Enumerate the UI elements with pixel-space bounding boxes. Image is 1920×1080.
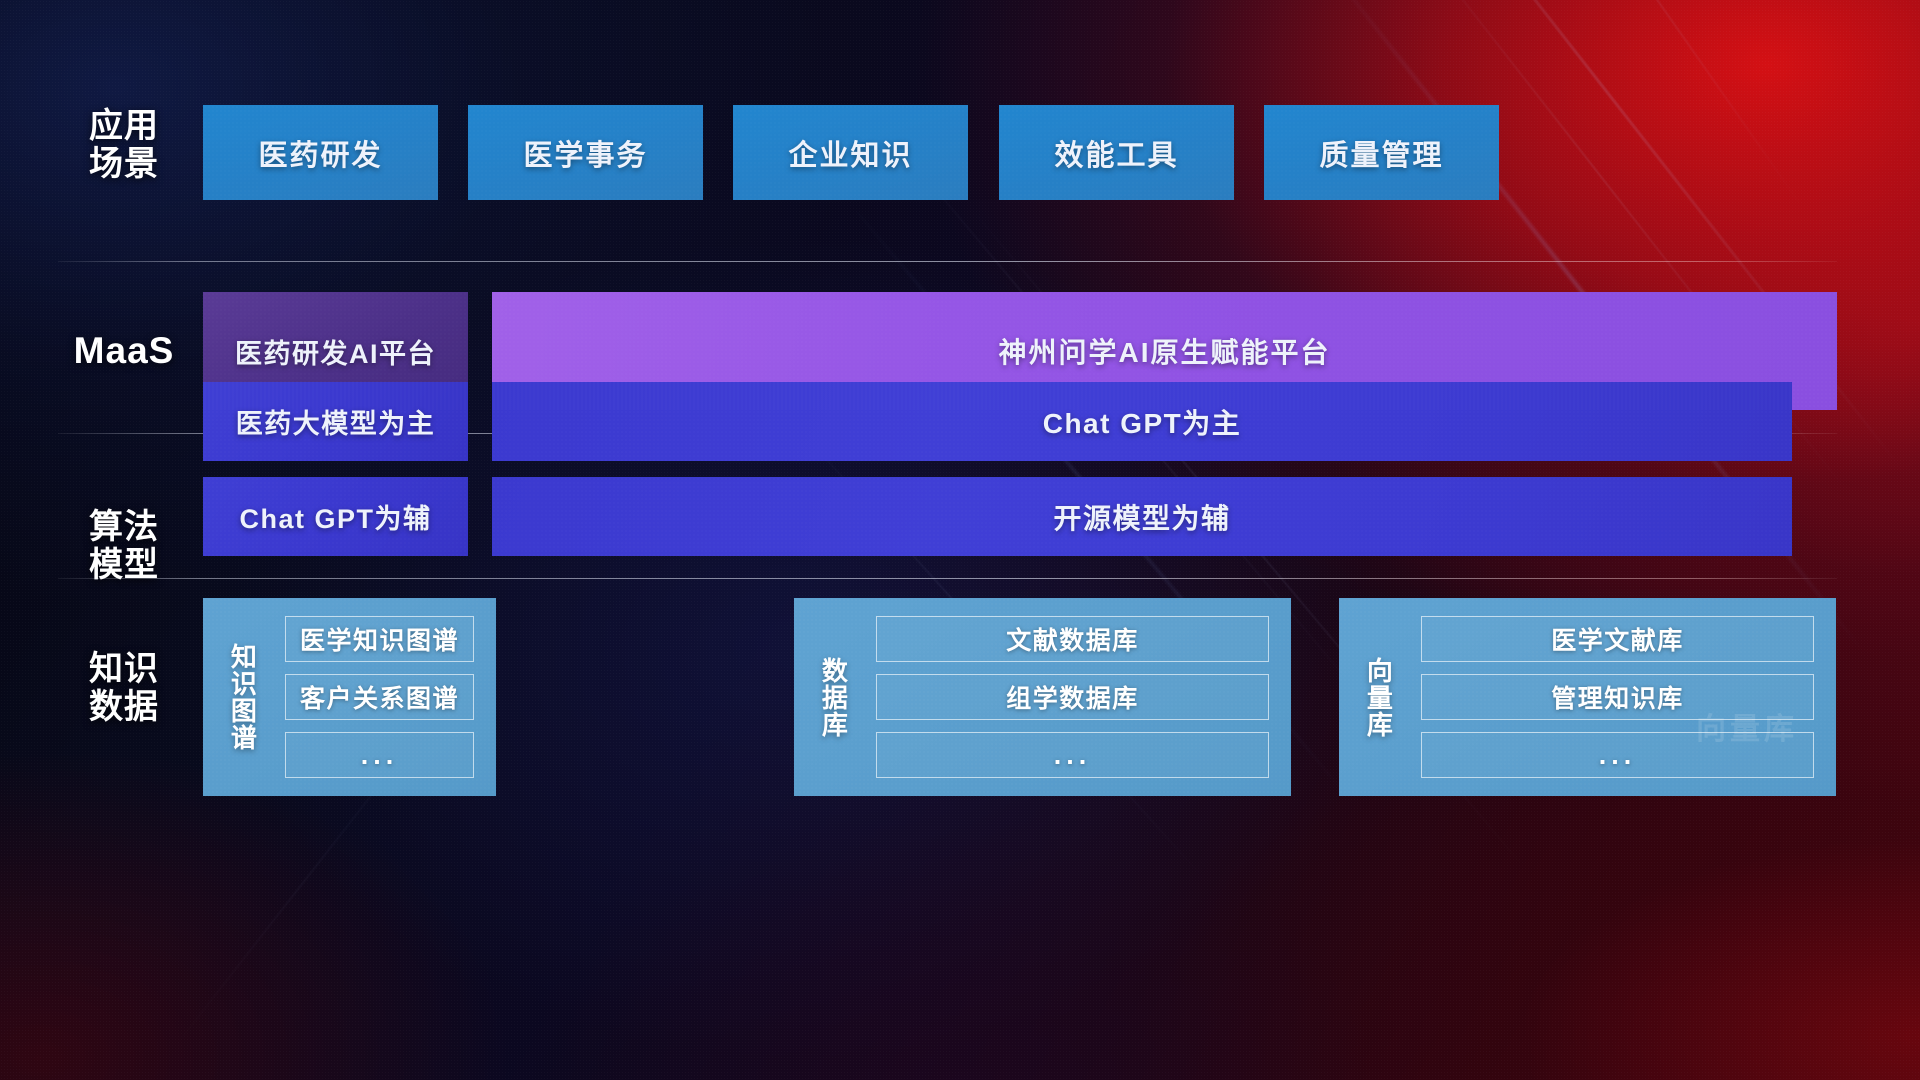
maas-platform-box-shenzhou-label: 神州问学AI原生赋能平台 bbox=[998, 331, 1330, 371]
algo-box-medical-primary-label: 医药大模型为主 bbox=[236, 402, 436, 441]
list-item[interactable]: 管理知识库 bbox=[1421, 674, 1814, 720]
algo-box-medical-primary[interactable]: 医药大模型为主 bbox=[203, 382, 468, 461]
algo-box-chatgpt-secondary[interactable]: Chat GPT为辅 bbox=[203, 477, 468, 556]
row-label-application-scenarios: 应用 场景 bbox=[58, 107, 190, 183]
list-item[interactable]: ... bbox=[1421, 732, 1814, 778]
row-label-knowledge-data: 知识 数据 bbox=[58, 650, 190, 726]
scenario-box-3-label: 企业知识 bbox=[788, 132, 912, 174]
scenario-box-1[interactable]: 医药研发 bbox=[203, 105, 438, 200]
row-label-algorithm-models: 算法 模型 bbox=[58, 508, 190, 584]
scenario-box-4[interactable]: 效能工具 bbox=[999, 105, 1234, 200]
scenario-box-4-label: 效能工具 bbox=[1054, 132, 1178, 174]
list-item[interactable]: 客户关系图谱 bbox=[285, 674, 474, 720]
row-divider-3 bbox=[58, 578, 1837, 579]
algo-box-opensource-secondary-label: 开源模型为辅 bbox=[1053, 497, 1230, 537]
knowledge-panel-vector-items: 医学文献库 管理知识库 ... bbox=[1417, 598, 1836, 796]
scenario-box-5[interactable]: 质量管理 bbox=[1264, 105, 1499, 200]
knowledge-panel-database-items: 文献数据库 组学数据库 ... bbox=[872, 598, 1291, 796]
maas-platform-box-medical-label: 医药研发AI平台 bbox=[235, 332, 436, 371]
knowledge-panel-graph[interactable]: 知识图谱 医学知识图谱 客户关系图谱 ... bbox=[203, 598, 496, 796]
algo-box-opensource-secondary[interactable]: 开源模型为辅 bbox=[492, 477, 1792, 556]
knowledge-panel-database[interactable]: 数据库 文献数据库 组学数据库 ... bbox=[794, 598, 1291, 796]
scenario-box-2[interactable]: 医学事务 bbox=[468, 105, 703, 200]
list-item[interactable]: 医学知识图谱 bbox=[285, 616, 474, 662]
row-divider-1 bbox=[58, 261, 1837, 262]
scenario-box-2-label: 医学事务 bbox=[523, 132, 647, 174]
list-item[interactable]: 文献数据库 bbox=[876, 616, 1269, 662]
row-label-maas: MaaS bbox=[58, 330, 190, 371]
list-item[interactable]: ... bbox=[876, 732, 1269, 778]
scenario-box-3[interactable]: 企业知识 bbox=[733, 105, 968, 200]
scenario-box-1-label: 医药研发 bbox=[258, 132, 382, 174]
list-item[interactable]: 组学数据库 bbox=[876, 674, 1269, 720]
knowledge-panel-graph-category: 知识图谱 bbox=[203, 598, 281, 796]
algo-box-chatgpt-primary[interactable]: Chat GPT为主 bbox=[492, 382, 1792, 461]
knowledge-panel-vector[interactable]: 向量库 向量库 医学文献库 管理知识库 ... bbox=[1339, 598, 1836, 796]
list-item[interactable]: ... bbox=[285, 732, 474, 778]
algo-box-chatgpt-secondary-label: Chat GPT为辅 bbox=[239, 497, 431, 536]
scenario-box-5-label: 质量管理 bbox=[1319, 132, 1443, 174]
knowledge-panel-vector-category: 向量库 bbox=[1339, 598, 1417, 796]
list-item[interactable]: 医学文献库 bbox=[1421, 616, 1814, 662]
knowledge-panel-database-category: 数据库 bbox=[794, 598, 872, 796]
knowledge-panel-graph-items: 医学知识图谱 客户关系图谱 ... bbox=[281, 598, 496, 796]
algo-box-chatgpt-primary-label: Chat GPT为主 bbox=[1043, 402, 1242, 442]
